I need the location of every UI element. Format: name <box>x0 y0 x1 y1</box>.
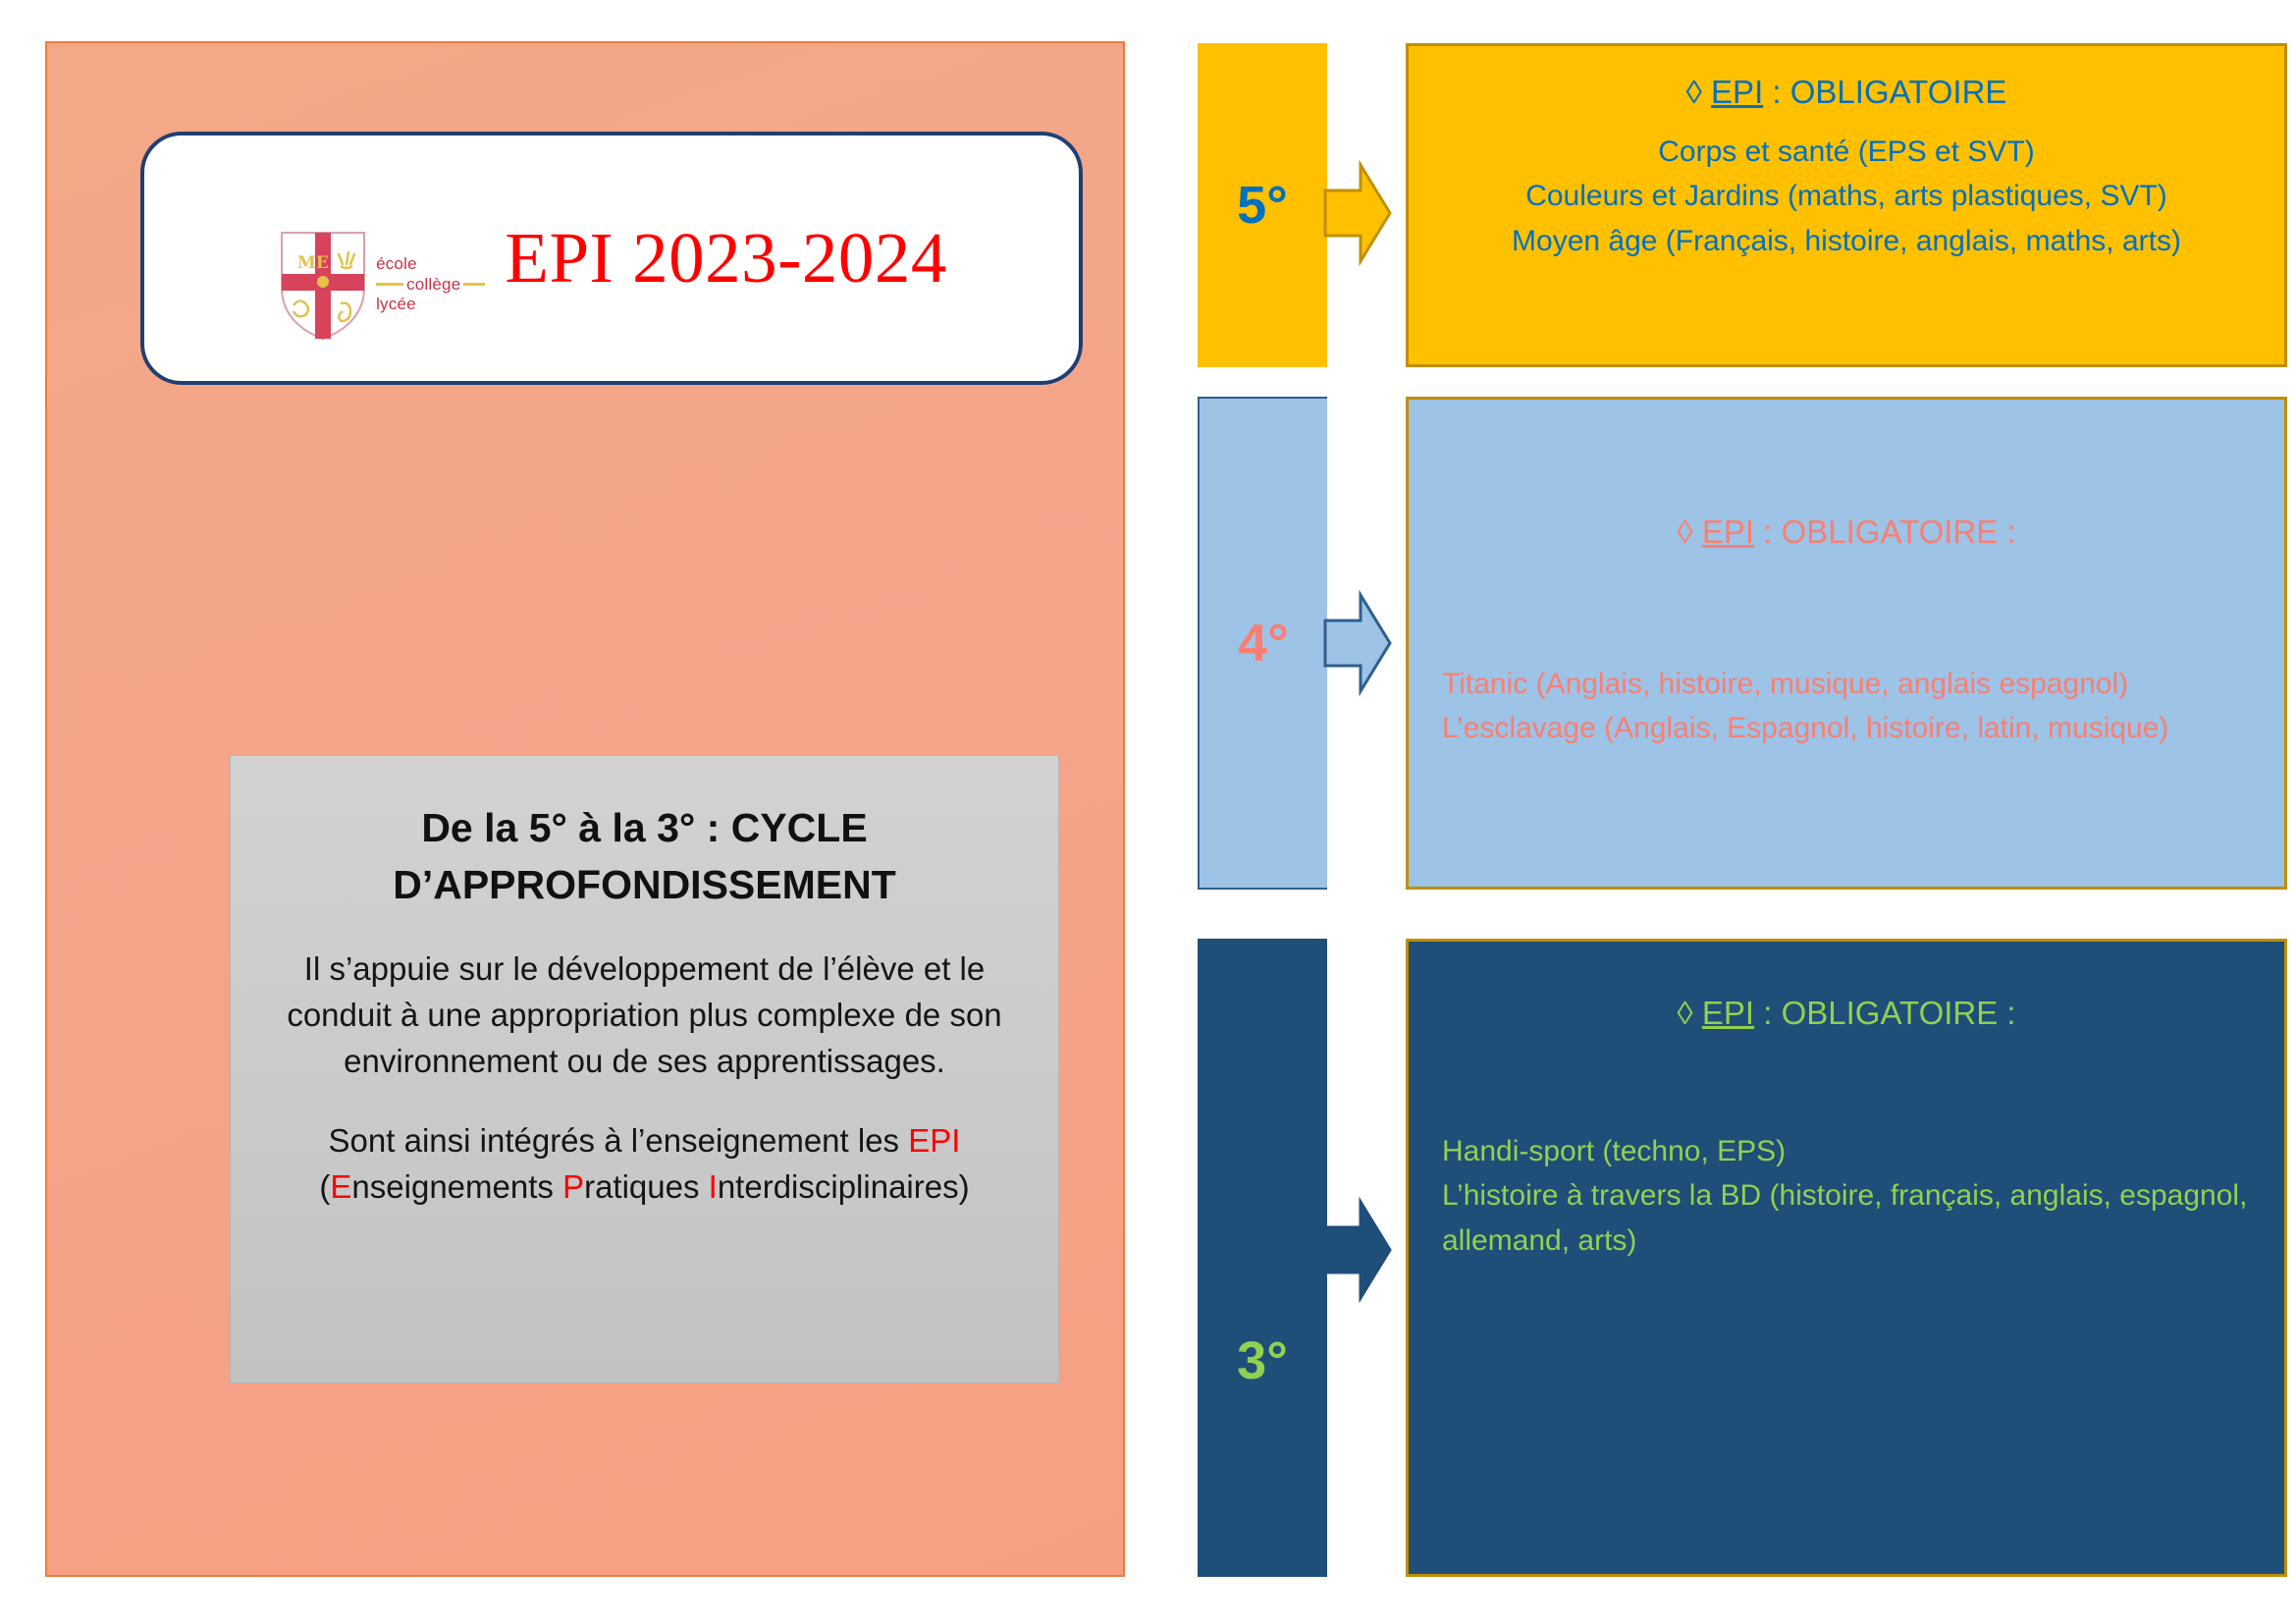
level-label-quatrieme: 4° <box>1238 617 1289 670</box>
school-logo-text: école collège lycée <box>376 254 485 315</box>
diamond-bullet-icon: ◊ <box>1677 995 1692 1031</box>
level-card-title-troisieme: ◊ EPI : OBLIGATOIRE : <box>1442 993 2251 1035</box>
obligatoire-label-troisieme: : OBLIGATOIRE : <box>1754 995 2016 1031</box>
epi-letter-e: E <box>330 1168 351 1205</box>
logo-line-college: collège <box>376 275 485 296</box>
logo-line-ecole: école <box>376 254 485 275</box>
title-card: ME école collège lycée EPI 20 <box>140 132 1083 385</box>
diamond-bullet-icon: ◊ <box>1686 74 1702 110</box>
epi-list-cinquieme: Corps et santé (EPS et SVT) Couleurs et … <box>1442 130 2251 264</box>
diamond-bullet-icon: ◊ <box>1677 514 1692 550</box>
school-logo: ME école collège lycée <box>276 227 485 343</box>
epi-word-interdisciplinaires: nterdisciplinaires) <box>718 1168 970 1205</box>
epi-letter-i: I <box>709 1168 718 1205</box>
epi-letter-p: P <box>562 1168 584 1205</box>
level-card-title-cinquieme: ◊ EPI : OBLIGATOIRE <box>1442 72 2251 114</box>
level-card-quatrieme: ◊ EPI : OBLIGATOIRE : Titanic (Anglais, … <box>1406 397 2287 890</box>
level-card-title-quatrieme: ◊ EPI : OBLIGATOIRE : <box>1442 512 2251 554</box>
obligatoire-label-quatrieme: : OBLIGATOIRE : <box>1754 514 2016 550</box>
list-item: L’esclavage (Anglais, Espagnol, histoire… <box>1442 706 2251 751</box>
epi-word-enseignements: nseignements <box>351 1168 562 1205</box>
levels-column: 5° ◊ EPI : OBLIGATOIRE Corps et santé (E… <box>1198 0 2287 1624</box>
page-title: EPI 2023-2024 <box>505 217 947 299</box>
list-item: L’histoire à travers la BD (histoire, fr… <box>1442 1173 2251 1263</box>
cycle-heading: De la 5° à la 3° : CYCLE D’APPROFONDISSE… <box>264 799 1025 913</box>
cycle-paragraph-2-lead: Sont ainsi intégrés à l’enseignement les <box>329 1122 909 1159</box>
cycle-paragraph-1: Il s’appuie sur le développement de l’él… <box>264 947 1025 1085</box>
epi-expansion-open: ( <box>319 1168 330 1205</box>
level-label-cinquieme: 5° <box>1237 179 1288 232</box>
svg-text:ME: ME <box>297 253 329 273</box>
cycle-heading-line-1: De la 5° à la 3° : CYCLE <box>264 799 1025 856</box>
level-stub-cinquieme: 5° <box>1198 43 1327 367</box>
level-card-troisieme: ◊ EPI : OBLIGATOIRE : Handi-sport (techn… <box>1406 939 2287 1577</box>
level-row-troisieme: 3° ◊ EPI : OBLIGATOIRE : Handi-sport (te… <box>1198 939 2287 1577</box>
arrow-right-troisieme-icon <box>1323 1196 1392 1304</box>
level-card-cinquieme: ◊ EPI : OBLIGATOIRE Corps et santé (EPS … <box>1406 43 2287 367</box>
list-item: Titanic (Anglais, histoire, musique, ang… <box>1442 662 2251 707</box>
arrow-right-quatrieme-icon <box>1323 589 1392 697</box>
obligatoire-label-cinquieme: : OBLIGATOIRE <box>1763 74 2006 110</box>
list-item: Handi-sport (techno, EPS) <box>1442 1129 2251 1174</box>
cycle-info-box: De la 5° à la 3° : CYCLE D’APPROFONDISSE… <box>230 755 1059 1383</box>
level-stub-troisieme: 3° <box>1198 939 1327 1577</box>
epi-word-pratiques: ratiques <box>584 1168 709 1205</box>
epi-list-quatrieme: Titanic (Anglais, histoire, musique, ang… <box>1442 662 2251 751</box>
epi-list-troisieme: Handi-sport (techno, EPS) L’histoire à t… <box>1442 1129 2251 1264</box>
gold-rule-right-icon <box>463 283 485 286</box>
left-overview-panel: ME école collège lycée EPI 20 <box>45 41 1125 1577</box>
list-item: Moyen âge (Français, histoire, anglais, … <box>1442 219 2251 264</box>
epi-label-quatrieme: EPI <box>1702 514 1754 550</box>
logo-line-lycee: lycée <box>376 295 485 315</box>
level-row-quatrieme: 4° ◊ EPI : OBLIGATOIRE : Titanic (Anglai… <box>1198 397 2287 890</box>
gold-rule-left-icon <box>376 283 403 286</box>
school-crest-shield-icon: ME <box>276 227 370 343</box>
cycle-paragraph-2: Sont ainsi intégrés à l’enseignement les… <box>264 1118 1025 1211</box>
level-stub-quatrieme: 4° <box>1198 397 1327 890</box>
cycle-heading-line-2: D’APPROFONDISSEMENT <box>264 856 1025 913</box>
list-item: Couleurs et Jardins (maths, arts plastiq… <box>1442 174 2251 219</box>
level-row-cinquieme: 5° ◊ EPI : OBLIGATOIRE Corps et santé (E… <box>1198 43 2287 367</box>
arrow-right-cinquieme-icon <box>1323 159 1392 267</box>
level-label-troisieme: 3° <box>1237 1334 1288 1387</box>
epi-label-troisieme: EPI <box>1702 995 1754 1031</box>
epi-acronym: EPI <box>908 1122 960 1159</box>
list-item: Corps et santé (EPS et SVT) <box>1442 130 2251 175</box>
epi-label-cinquieme: EPI <box>1711 74 1763 110</box>
